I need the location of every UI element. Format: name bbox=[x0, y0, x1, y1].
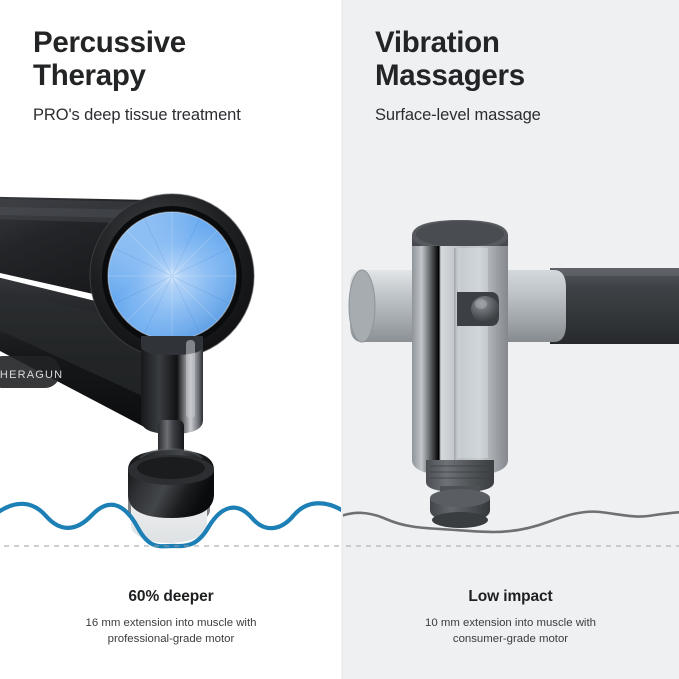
vibration-caption-desc-2: consumer-grade motor bbox=[453, 633, 568, 645]
blue-wave-line bbox=[0, 503, 342, 546]
vibration-caption-title: Low impact bbox=[342, 588, 679, 606]
percussive-heading-line1: Percussive bbox=[33, 26, 186, 59]
comparison-graphic: THERAGUN bbox=[0, 0, 679, 679]
percussive-caption-desc-1: 16 mm extension into muscle with bbox=[86, 617, 257, 629]
percussive-heading-line2: Therapy bbox=[33, 59, 146, 92]
panel-vibration-massagers: Vibration Massagers Surface-level massag… bbox=[342, 0, 679, 679]
vibration-caption-desc-1: 10 mm extension into muscle with bbox=[425, 617, 596, 629]
gray-wave-line bbox=[342, 512, 679, 532]
vibration-heading-line2: Massagers bbox=[375, 59, 525, 92]
panel-percussive-therapy: THERAGUN bbox=[0, 0, 342, 679]
percussive-subheading: PRO's deep tissue treatment bbox=[33, 105, 333, 126]
vibration-subheading: Surface-level massage bbox=[375, 105, 675, 126]
percussive-caption-title: 60% deeper bbox=[0, 588, 342, 606]
percussive-caption-desc-2: professional-grade motor bbox=[108, 633, 235, 645]
percussive-heading-block: Percussive Therapy PRO's deep tissue tre… bbox=[33, 26, 333, 126]
vibration-caption-block: Low impact 10 mm extension into muscle w… bbox=[342, 588, 679, 647]
vibration-heading-line1: Vibration bbox=[375, 26, 500, 59]
percussive-caption-block: 60% deeper 16 mm extension into muscle w… bbox=[0, 588, 342, 647]
vibration-heading-block: Vibration Massagers Surface-level massag… bbox=[375, 26, 675, 126]
